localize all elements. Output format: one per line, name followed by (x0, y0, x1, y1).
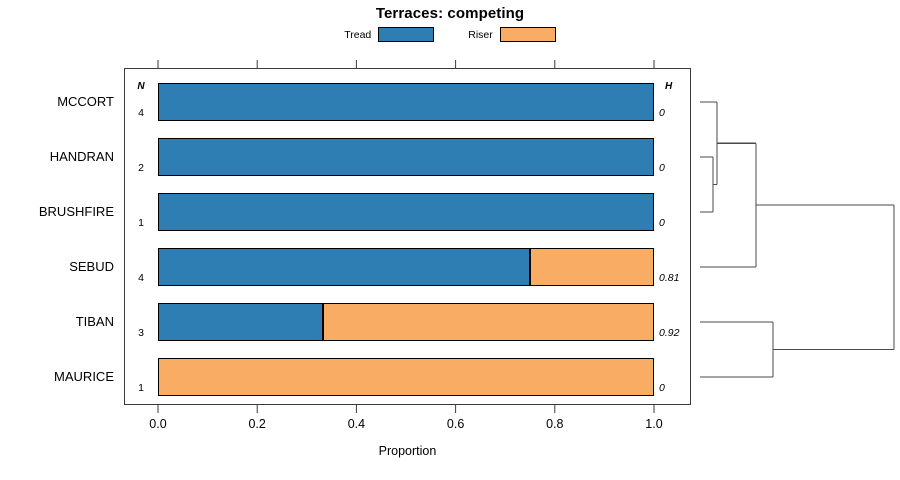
x-tick-label: 0.8 (533, 417, 577, 431)
page-title: Terraces: competing (0, 5, 900, 22)
x-axis-title: Proportion (124, 444, 691, 458)
chart-canvas: Terraces: competing Tread Riser N H MCCO… (0, 0, 900, 480)
h-value: 0.81 (659, 272, 693, 284)
category-label: HANDRAN (0, 149, 114, 164)
h-value: 0.92 (659, 327, 693, 339)
bar-segment-riser[interactable] (158, 358, 654, 396)
bar-segment-tread[interactable] (158, 83, 654, 121)
n-value: 4 (130, 272, 152, 284)
bar-row[interactable] (158, 83, 654, 121)
riser-swatch-icon (500, 27, 556, 42)
bar-row[interactable] (158, 248, 654, 286)
n-value: 1 (130, 382, 152, 394)
bar-segment-tread[interactable] (158, 138, 654, 176)
category-label: BRUSHFIRE (0, 204, 114, 219)
n-value: 3 (130, 327, 152, 339)
legend-label-riser: Riser (468, 29, 493, 41)
bar-row[interactable] (158, 138, 654, 176)
n-value: 1 (130, 217, 152, 229)
legend-item-riser[interactable]: Riser (468, 27, 556, 42)
legend-item-tread[interactable]: Tread (344, 27, 434, 42)
category-label: TIBAN (0, 314, 114, 329)
tread-swatch-icon (378, 27, 434, 42)
bar-row[interactable] (158, 193, 654, 231)
h-value: 0 (659, 217, 693, 229)
legend: Tread Riser (0, 27, 900, 42)
bar-row[interactable] (158, 358, 654, 396)
x-tick-label: 0.4 (334, 417, 378, 431)
legend-label-tread: Tread (344, 29, 371, 41)
category-label: MAURICE (0, 369, 114, 384)
h-column-header: H (665, 81, 691, 92)
x-tick-label: 1.0 (632, 417, 676, 431)
x-tick-label: 0.2 (235, 417, 279, 431)
n-value: 2 (130, 162, 152, 174)
x-tick-label: 0.0 (136, 417, 180, 431)
x-tick-label: 0.6 (434, 417, 478, 431)
n-value: 4 (130, 107, 152, 119)
bar-segment-tread[interactable] (158, 193, 654, 231)
h-value: 0 (659, 382, 693, 394)
bar-segment-tread[interactable] (158, 303, 323, 341)
dendrogram (691, 60, 900, 420)
category-label: MCCORT (0, 94, 114, 109)
h-value: 0 (659, 107, 693, 119)
bar-segment-riser[interactable] (323, 303, 654, 341)
bar-segment-riser[interactable] (530, 248, 654, 286)
category-label: SEBUD (0, 259, 114, 274)
bar-segment-tread[interactable] (158, 248, 530, 286)
n-column-header: N (130, 81, 152, 92)
bar-row[interactable] (158, 303, 654, 341)
h-value: 0 (659, 162, 693, 174)
